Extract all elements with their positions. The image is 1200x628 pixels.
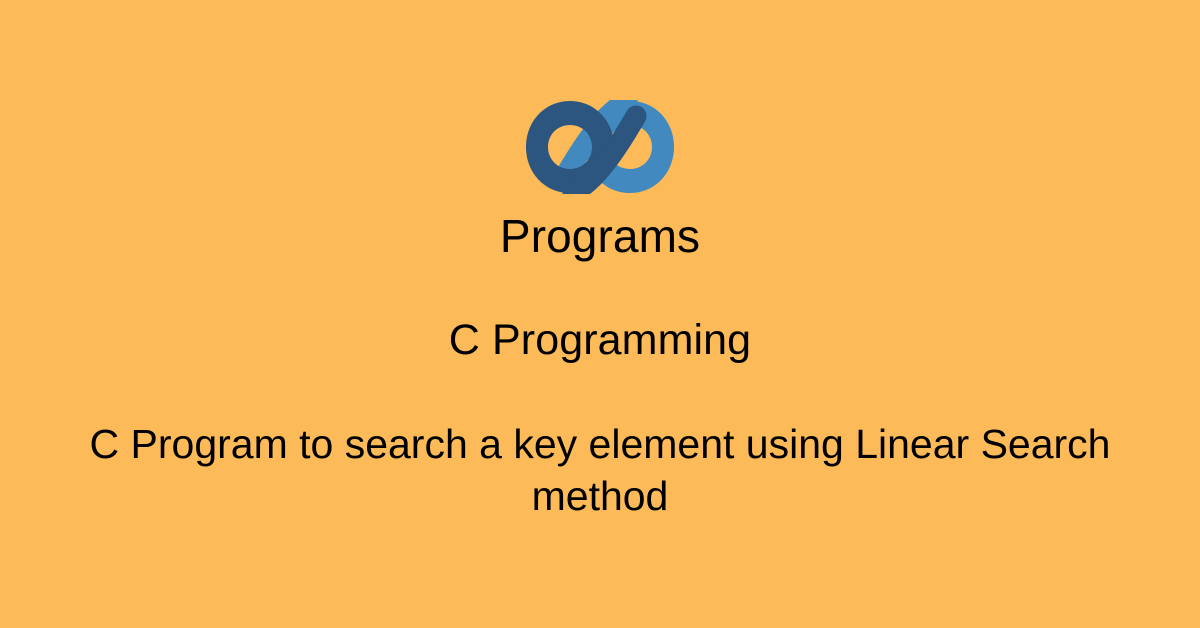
share-card: Programs C Programming C Program to sear… bbox=[0, 0, 1200, 628]
logo-container bbox=[0, 100, 1200, 194]
infinity-logo-icon bbox=[524, 100, 676, 194]
category-name: C Programming bbox=[0, 315, 1200, 366]
brand-name: Programs bbox=[0, 209, 1200, 263]
post-title: C Program to search a key element using … bbox=[0, 418, 1200, 523]
